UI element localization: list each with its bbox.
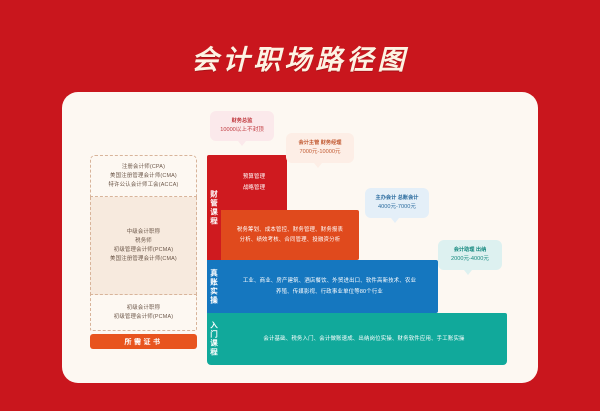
diagram-card: 注册会计师(CPA) 美国注册管理会计师(CMA) 特许公认会计师工会(ACCA… bbox=[62, 92, 538, 383]
step-body-financial-management-detail: 税务筹划、成本管控、财务管理、财务报表 分析、绩效考核、合同管理、投融资分析 bbox=[221, 210, 359, 260]
salary-badge-role: 会计主管 财务经理 bbox=[299, 139, 342, 147]
salary-badge-pay: 2000元-4000元 bbox=[451, 255, 489, 264]
salary-badge-pay: 7000元-10000元 bbox=[299, 148, 340, 157]
step-line: 工业、商业、房产建筑、酒店餐饮、外贸进出口、软件高新技术、农业 bbox=[243, 276, 416, 287]
salary-badge-general-ledger: 主办会计 总账会计 4000元-7000元 bbox=[365, 188, 429, 218]
salary-badge-tail bbox=[238, 141, 246, 146]
career-staircase: 预算管理 战略管理 税务筹划、成本管控、财务管理、财务报表 分析、绩效考核、合同… bbox=[62, 92, 538, 383]
salary-badge-manager: 会计主管 财务经理 7000元-10000元 bbox=[286, 133, 354, 163]
step-line: 会计基础、税务入门、会计做账速成、出纳岗位实操、财务软件应用、手工账实操 bbox=[263, 334, 464, 345]
step-spine-real-accounting: 真账实操 bbox=[207, 260, 221, 313]
salary-badge-assistant: 会计助理 出纳 2000元-4000元 bbox=[438, 240, 502, 270]
page-title-text: 会计职场路径图 bbox=[192, 38, 409, 77]
step-body-financial-management: 预算管理 战略管理 bbox=[221, 155, 287, 210]
step-line: 分析、绩效考核、合同管理、投融资分析 bbox=[240, 235, 341, 246]
salary-badge-cfo: 财务总监 10000以上不封顶 bbox=[210, 111, 274, 141]
salary-badge-tail bbox=[464, 270, 472, 275]
salary-badge-role: 主办会计 总账会计 bbox=[376, 194, 419, 202]
step-line: 预算管理 bbox=[243, 172, 265, 183]
salary-badge-pay: 4000元-7000元 bbox=[378, 203, 416, 212]
step-line: 战略管理 bbox=[243, 183, 265, 194]
salary-badge-tail bbox=[314, 163, 322, 168]
salary-badge-pay: 10000以上不封顶 bbox=[220, 126, 264, 135]
salary-badge-role: 财务总监 bbox=[232, 117, 253, 125]
page-title: 会计职场路径图 bbox=[0, 38, 600, 77]
step-line: 养殖、传媒影视、行政事业单位等80个行业 bbox=[276, 287, 383, 298]
step-body-entry-course: 会计基础、税务入门、会计做账速成、出纳岗位实操、财务软件应用、手工账实操 bbox=[221, 313, 507, 365]
salary-badge-role: 会计助理 出纳 bbox=[454, 246, 487, 254]
step-body-real-accounting: 工业、商业、房产建筑、酒店餐饮、外贸进出口、软件高新技术、农业 养殖、传媒影视、… bbox=[221, 260, 438, 313]
step-spine-entry-course: 入门课程 bbox=[207, 313, 221, 365]
step-spine-financial-management: 财管课程 bbox=[207, 155, 221, 260]
salary-badge-tail bbox=[391, 218, 399, 223]
step-line: 税务筹划、成本管控、财务管理、财务报表 bbox=[237, 225, 343, 236]
